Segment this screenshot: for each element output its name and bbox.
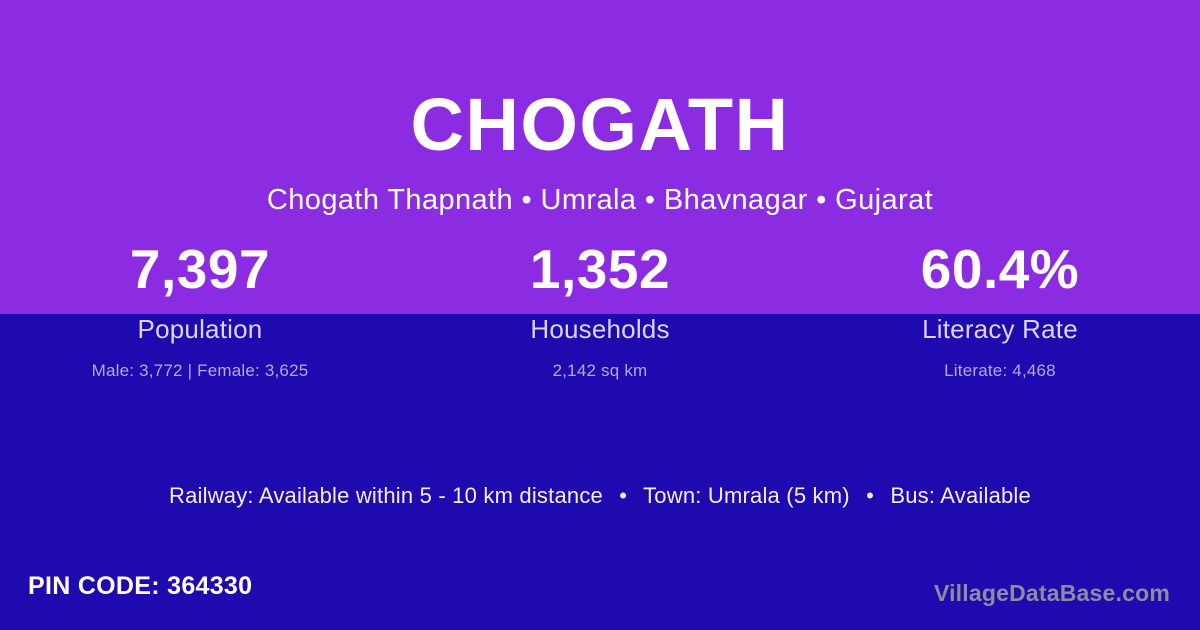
stat-value-population: 7,397 bbox=[0, 242, 400, 304]
stat-value-households: 1,352 bbox=[400, 242, 800, 304]
card-header: CHOGATH Chogath Thapnath • Umrala • Bhav… bbox=[0, 0, 1200, 215]
stat-value-literacy-rate: 60.4% bbox=[800, 242, 1200, 304]
amenity-railway: Railway: Available within 5 - 10 km dist… bbox=[169, 483, 603, 508]
card-footer: PIN CODE: 364330 VillageDataBase.com bbox=[0, 558, 1200, 630]
stat-label-households: Households bbox=[400, 316, 800, 342]
stats-row: 7,397 Population Male: 3,772 | Female: 3… bbox=[0, 242, 1200, 379]
stat-sub-literacy-rate: Literate: 4,468 bbox=[800, 362, 1200, 379]
pin-code-label: PIN CODE: 364330 bbox=[28, 574, 252, 599]
stat-card-population: 7,397 Population Male: 3,772 | Female: 3… bbox=[0, 242, 400, 379]
amenities-row: Railway: Available within 5 - 10 km dist… bbox=[0, 485, 1200, 507]
stat-label-population: Population bbox=[0, 316, 400, 342]
stat-sub-households: 2,142 sq km bbox=[400, 362, 800, 379]
stat-card-households: 1,352 Households 2,142 sq km bbox=[400, 242, 800, 379]
stat-card-literacy-rate: 60.4% Literacy Rate Literate: 4,468 bbox=[800, 242, 1200, 379]
brand-watermark: VillageDataBase.com bbox=[934, 582, 1170, 605]
breadcrumb: Chogath Thapnath • Umrala • Bhavnagar • … bbox=[0, 162, 1200, 215]
amenity-separator-icon: • bbox=[856, 485, 884, 507]
stat-sub-population: Male: 3,772 | Female: 3,625 bbox=[0, 362, 400, 379]
amenity-town: Town: Umrala (5 km) bbox=[643, 483, 850, 508]
stat-label-literacy-rate: Literacy Rate bbox=[800, 316, 1200, 342]
amenity-separator-icon: • bbox=[609, 485, 637, 507]
village-info-card: CHOGATH Chogath Thapnath • Umrala • Bhav… bbox=[0, 0, 1200, 630]
page-title: CHOGATH bbox=[0, 0, 1200, 162]
amenity-bus: Bus: Available bbox=[890, 483, 1031, 508]
